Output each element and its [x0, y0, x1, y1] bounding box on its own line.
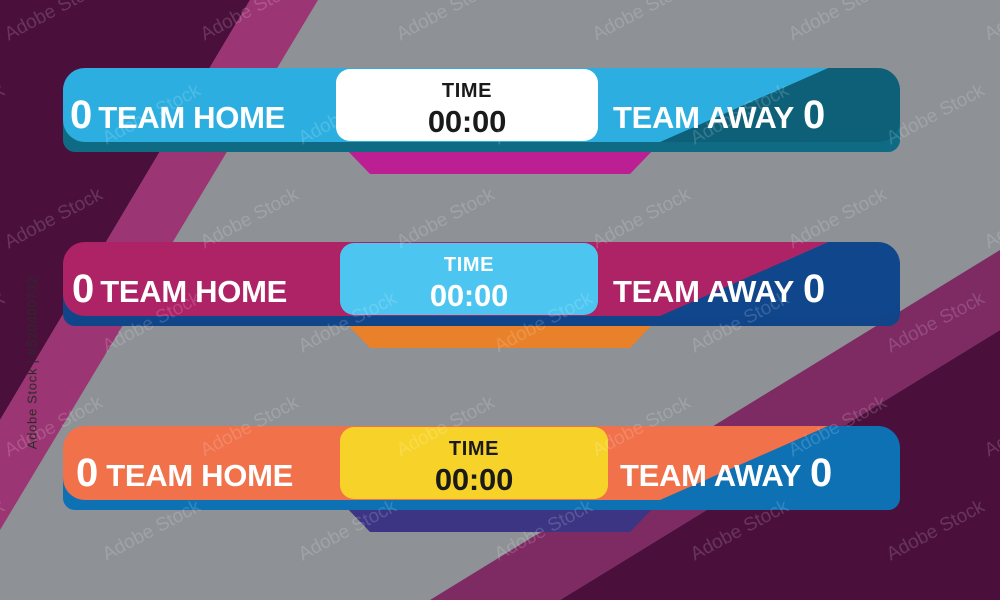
time-label-blue: TIME [442, 81, 492, 101]
scoreboard-graphics-canvas: 0 TEAM HOME TIME 00:00 TEAM AWAY 0 0 TEA… [0, 0, 1000, 600]
time-value-orange: 00:00 [435, 464, 513, 495]
home-score-blue: 0 [70, 95, 92, 135]
home-group-magenta: 0 TEAM HOME [72, 269, 287, 309]
home-team-name-magenta: TEAM HOME [100, 276, 287, 307]
away-score-blue: 0 [803, 95, 825, 135]
away-group-blue: TEAM AWAY 0 [613, 95, 825, 135]
home-score-orange: 0 [76, 453, 98, 493]
away-team-name-magenta: TEAM AWAY [613, 276, 794, 307]
scoreboard-orange-text: 0 TEAM HOME TIME 00:00 TEAM AWAY 0 [0, 426, 1000, 526]
away-score-magenta: 0 [803, 269, 825, 309]
away-group-orange: TEAM AWAY 0 [620, 453, 832, 493]
away-team-name-blue: TEAM AWAY [613, 102, 794, 133]
home-team-name-blue: TEAM HOME [98, 102, 285, 133]
away-score-orange: 0 [810, 453, 832, 493]
home-team-name-orange: TEAM HOME [106, 460, 293, 491]
time-group-blue: TIME 00:00 [336, 81, 598, 137]
time-group-orange: TIME 00:00 [340, 439, 608, 495]
time-value-blue: 00:00 [428, 106, 506, 137]
time-group-magenta: TIME 00:00 [340, 255, 598, 311]
stock-credit-label: Adobe Stock | #520400732 [25, 243, 40, 483]
scoreboard-magenta-text: 0 TEAM HOME TIME 00:00 TEAM AWAY 0 [0, 242, 1000, 342]
time-label-orange: TIME [449, 439, 499, 459]
away-group-magenta: TEAM AWAY 0 [613, 269, 825, 309]
scoreboard-blue-text: 0 TEAM HOME TIME 00:00 TEAM AWAY 0 [0, 68, 1000, 168]
home-group-orange: 0 TEAM HOME [76, 453, 293, 493]
home-group-blue: 0 TEAM HOME [70, 95, 285, 135]
home-score-magenta: 0 [72, 269, 94, 309]
time-label-magenta: TIME [444, 255, 494, 275]
away-team-name-orange: TEAM AWAY [620, 460, 801, 491]
time-value-magenta: 00:00 [430, 280, 508, 311]
